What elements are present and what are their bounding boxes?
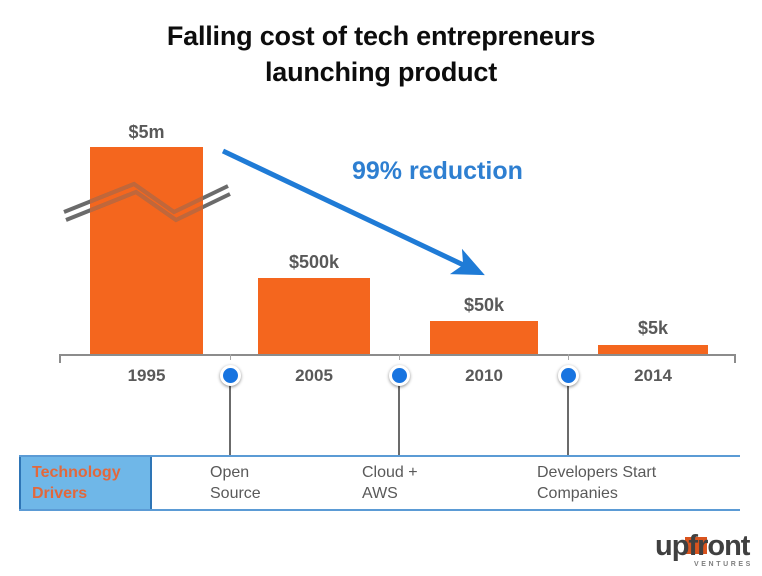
cell-line-1: Cloud +	[362, 462, 479, 483]
bar-value-label-2014: $5k	[598, 318, 708, 339]
cell-line-2: Source	[210, 483, 304, 504]
timeline-stem-cloud-aws	[398, 375, 400, 455]
axis-tick-2010	[399, 354, 400, 360]
table-cell-open-source: Open Source	[152, 457, 304, 509]
timeline-dot-open-source[interactable]	[220, 365, 241, 386]
technology-drivers-table: Technology Drivers Open Source Cloud + A…	[19, 455, 740, 511]
reduction-callout-label: 99% reduction	[352, 157, 523, 186]
table-cell-developers-start-companies: Developers Start Companies	[479, 457, 738, 509]
timeline-dot-developers[interactable]	[558, 365, 579, 386]
logo-wordmark: upfront	[655, 531, 749, 561]
axis-tick-2014	[568, 354, 569, 360]
slide-canvas: Falling cost of tech entrepreneurs launc…	[0, 0, 762, 576]
axis-tick-start	[59, 354, 61, 363]
cell-line-1: Developers Start	[537, 462, 738, 483]
bar-2010	[430, 321, 538, 355]
x-axis-line	[59, 354, 736, 356]
x-tick-label-2005: 2005	[258, 366, 370, 386]
axis-break-icon	[62, 172, 232, 224]
cell-line-2: AWS	[362, 483, 479, 504]
axis-tick-end	[734, 354, 736, 363]
header-line-2: Drivers	[32, 483, 150, 504]
table-header-technology-drivers: Technology Drivers	[19, 457, 152, 509]
bar-value-label-1995: $5m	[90, 122, 203, 143]
logo-subtitle: VENTURES	[694, 561, 753, 568]
header-line-1: Technology	[32, 462, 150, 483]
timeline-stem-developers	[567, 375, 569, 455]
timeline-stem-open-source	[229, 375, 231, 455]
timeline-dot-cloud-aws[interactable]	[389, 365, 410, 386]
x-tick-label-2014: 2014	[598, 366, 708, 386]
x-tick-label-2010: 2010	[430, 366, 538, 386]
upfront-ventures-logo: upfront VENTURES	[655, 531, 755, 571]
bar-value-label-2010: $50k	[430, 295, 538, 316]
table-cell-cloud-aws: Cloud + AWS	[304, 457, 479, 509]
axis-tick-2005	[230, 354, 231, 360]
x-tick-label-1995: 1995	[90, 366, 203, 386]
cell-line-2: Companies	[537, 483, 738, 504]
cell-line-1: Open	[210, 462, 304, 483]
